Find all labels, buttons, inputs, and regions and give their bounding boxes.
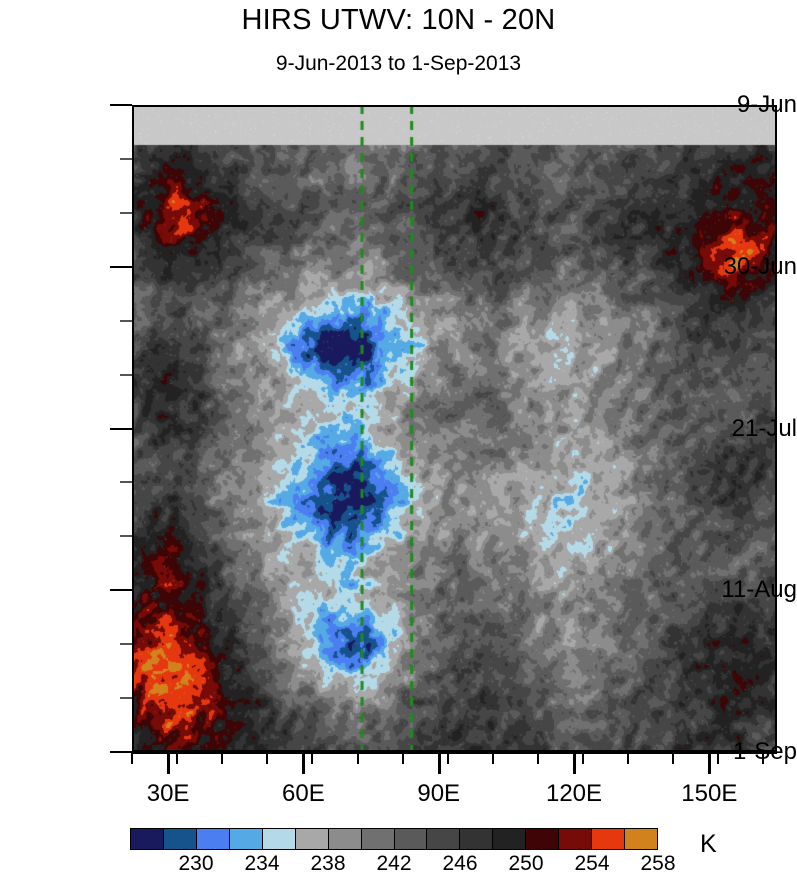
page-subtitle: 9-Jun-2013 to 1-Sep-2013 bbox=[0, 52, 797, 76]
y-axis-minor-tick bbox=[120, 212, 132, 214]
y-axis-major-tick bbox=[110, 428, 132, 430]
colorbar-swatch bbox=[131, 829, 163, 849]
y-axis-minor-tick bbox=[120, 481, 132, 483]
y-axis-minor-tick bbox=[120, 697, 132, 699]
x-axis-major-tick bbox=[708, 752, 711, 774]
x-axis-tick-label: 120E bbox=[514, 782, 634, 806]
colorbar-swatch bbox=[624, 829, 657, 849]
x-axis-major-tick bbox=[438, 752, 441, 774]
x-axis-major-tick bbox=[302, 752, 305, 774]
colorbar-swatch bbox=[328, 829, 361, 849]
y-axis-minor-tick bbox=[120, 643, 132, 645]
colorbar-swatch bbox=[163, 829, 196, 849]
y-axis-major-tick bbox=[110, 266, 132, 268]
colorbar-swatch bbox=[361, 829, 394, 849]
colorbar-swatch bbox=[525, 829, 558, 849]
page-title: HIRS UTWV: 10N - 20N bbox=[0, 4, 797, 37]
contour-field-canvas bbox=[132, 105, 777, 752]
hovmoller-plot-area bbox=[132, 105, 777, 752]
y-axis-minor-tick bbox=[120, 320, 132, 322]
colorbar-swatch bbox=[394, 829, 427, 849]
y-axis-tick-label: 21-Jul bbox=[685, 417, 797, 441]
y-axis-tick-label: 9-Jun bbox=[685, 93, 797, 117]
colorbar-swatch bbox=[459, 829, 492, 849]
x-axis-line bbox=[132, 752, 777, 754]
x-axis-tick-label: 150E bbox=[649, 782, 769, 806]
x-axis-tick-label: 60E bbox=[243, 782, 363, 806]
colorbar-swatch bbox=[229, 829, 262, 849]
colorbar-swatch bbox=[262, 829, 295, 849]
y-axis-major-tick bbox=[110, 589, 132, 591]
y-axis-minor-tick bbox=[120, 374, 132, 376]
y-axis-major-tick bbox=[110, 751, 132, 753]
x-axis-major-tick bbox=[167, 752, 170, 774]
y-axis-major-tick bbox=[110, 104, 132, 106]
colorbar-swatch bbox=[591, 829, 624, 849]
y-axis-minor-tick bbox=[120, 158, 132, 160]
x-axis-major-tick bbox=[573, 752, 576, 774]
x-axis-tick-label: 90E bbox=[379, 782, 499, 806]
x-axis-tick-label: 30E bbox=[108, 782, 228, 806]
y-axis-tick-label: 11-Aug bbox=[685, 578, 797, 602]
colorbar-unit-label: K bbox=[700, 830, 717, 859]
colorbar-tick-label: 258 bbox=[618, 853, 698, 874]
colorbar-swatch bbox=[426, 829, 459, 849]
colorbar-swatch bbox=[558, 829, 591, 849]
colorbar-swatch bbox=[196, 829, 229, 849]
y-axis-tick-label: 30-Jun bbox=[685, 255, 797, 279]
colorbar-swatch bbox=[492, 829, 525, 849]
y-axis-minor-tick bbox=[120, 535, 132, 537]
colorbar bbox=[130, 828, 658, 850]
colorbar-swatch bbox=[295, 829, 328, 849]
